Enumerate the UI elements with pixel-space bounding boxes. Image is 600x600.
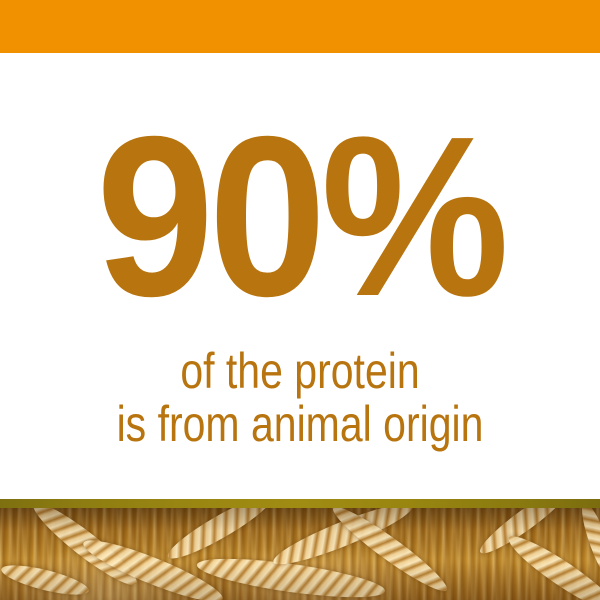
wheat-field-photo [0, 508, 600, 600]
stat-percentage: 90% [21, 103, 579, 331]
content-area: 90% of the protein is from animal origin [0, 53, 600, 499]
olive-divider-stripe [0, 499, 600, 508]
top-accent-bar [0, 0, 600, 53]
stat-caption: of the protein is from animal origin [54, 345, 546, 451]
caption-line-1: of the protein [54, 345, 546, 398]
photo-vignette [0, 508, 600, 600]
caption-line-2: is from animal origin [54, 398, 546, 451]
infographic-canvas: 90% of the protein is from animal origin [0, 0, 600, 600]
